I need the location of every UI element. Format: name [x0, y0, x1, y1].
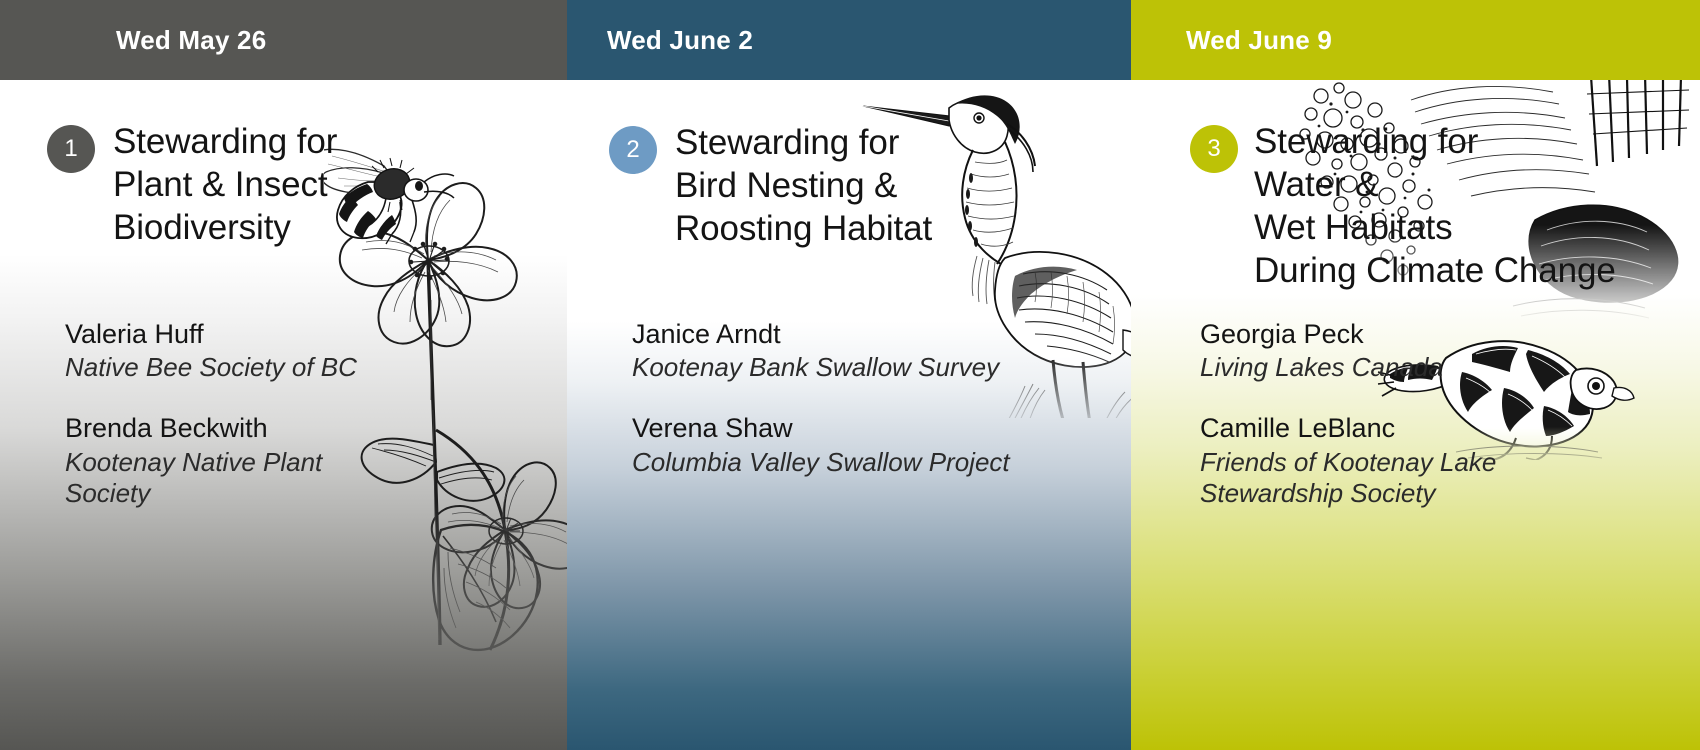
session-2-header: Wed June 2 [567, 0, 1131, 80]
session-3-title-row: 3 Stewarding for Water & Wet Habitats Du… [1190, 125, 1700, 292]
speaker-organization: Columbia Valley Swallow Project [632, 447, 1010, 479]
speaker-entry: Georgia Peck Living Lakes Canada [1200, 318, 1496, 384]
speaker-entry: Valeria Huff Native Bee Society of BC [65, 318, 357, 384]
speaker-organization: Native Bee Society of BC [65, 352, 357, 384]
session-column-3: Wed June 9 [1131, 0, 1700, 750]
session-series-poster: Wed May 26 [0, 0, 1700, 750]
speaker-name: Camille LeBlanc [1200, 412, 1496, 444]
session-column-1: Wed May 26 [0, 0, 567, 750]
session-3-number-badge: 3 [1190, 125, 1238, 173]
session-1-speaker-list: Valeria Huff Native Bee Society of BC Br… [65, 318, 357, 510]
speaker-entry: Brenda Beckwith Kootenay Native Plant So… [65, 412, 357, 510]
session-1-content: 1 Stewarding for Plant & Insect Biodiver… [0, 80, 567, 249]
session-2-content: 2 Stewarding for Bird Nesting & Roosting… [567, 80, 1131, 250]
session-1-body: 1 Stewarding for Plant & Insect Biodiver… [0, 80, 567, 750]
session-column-2: Wed June 2 [567, 0, 1131, 750]
session-3-body: 3 Stewarding for Water & Wet Habitats Du… [1131, 80, 1700, 750]
session-3-speaker-list: Georgia Peck Living Lakes Canada Camille… [1200, 318, 1496, 510]
speaker-entry: Janice Arndt Kootenay Bank Swallow Surve… [632, 318, 1010, 384]
speaker-name: Georgia Peck [1200, 318, 1496, 350]
speaker-name: Janice Arndt [632, 318, 1010, 350]
session-2-number-badge: 2 [609, 126, 657, 174]
session-2-body: 2 Stewarding for Bird Nesting & Roosting… [567, 80, 1131, 750]
session-2-speaker-list: Janice Arndt Kootenay Bank Swallow Surve… [632, 318, 1010, 478]
session-1-date-label: Wed May 26 [0, 25, 266, 56]
speaker-name: Valeria Huff [65, 318, 357, 350]
session-3-header: Wed June 9 [1131, 0, 1700, 80]
speaker-entry: Verena Shaw Columbia Valley Swallow Proj… [632, 412, 1010, 478]
session-1-title-row: 1 Stewarding for Plant & Insect Biodiver… [47, 125, 567, 249]
session-3-content: 3 Stewarding for Water & Wet Habitats Du… [1131, 80, 1700, 292]
session-2-date-label: Wed June 2 [567, 25, 753, 56]
speaker-organization: Living Lakes Canada [1200, 352, 1496, 384]
session-2-title: Stewarding for Bird Nesting & Roosting H… [675, 121, 932, 250]
speaker-organization: Friends of Kootenay Lake Stewardship Soc… [1200, 447, 1496, 510]
speaker-name: Verena Shaw [632, 412, 1010, 444]
speaker-organization: Kootenay Native Plant Society [65, 447, 357, 510]
session-1-header: Wed May 26 [0, 0, 567, 80]
session-3-date-label: Wed June 9 [1131, 25, 1332, 56]
speaker-organization: Kootenay Bank Swallow Survey [632, 352, 1010, 384]
speaker-name: Brenda Beckwith [65, 412, 357, 444]
session-3-title: Stewarding for Water & Wet Habitats Duri… [1254, 120, 1616, 292]
session-2-title-row: 2 Stewarding for Bird Nesting & Roosting… [609, 126, 1131, 250]
speaker-entry: Camille LeBlanc Friends of Kootenay Lake… [1200, 412, 1496, 510]
session-1-title: Stewarding for Plant & Insect Biodiversi… [113, 120, 337, 249]
session-1-number-badge: 1 [47, 125, 95, 173]
